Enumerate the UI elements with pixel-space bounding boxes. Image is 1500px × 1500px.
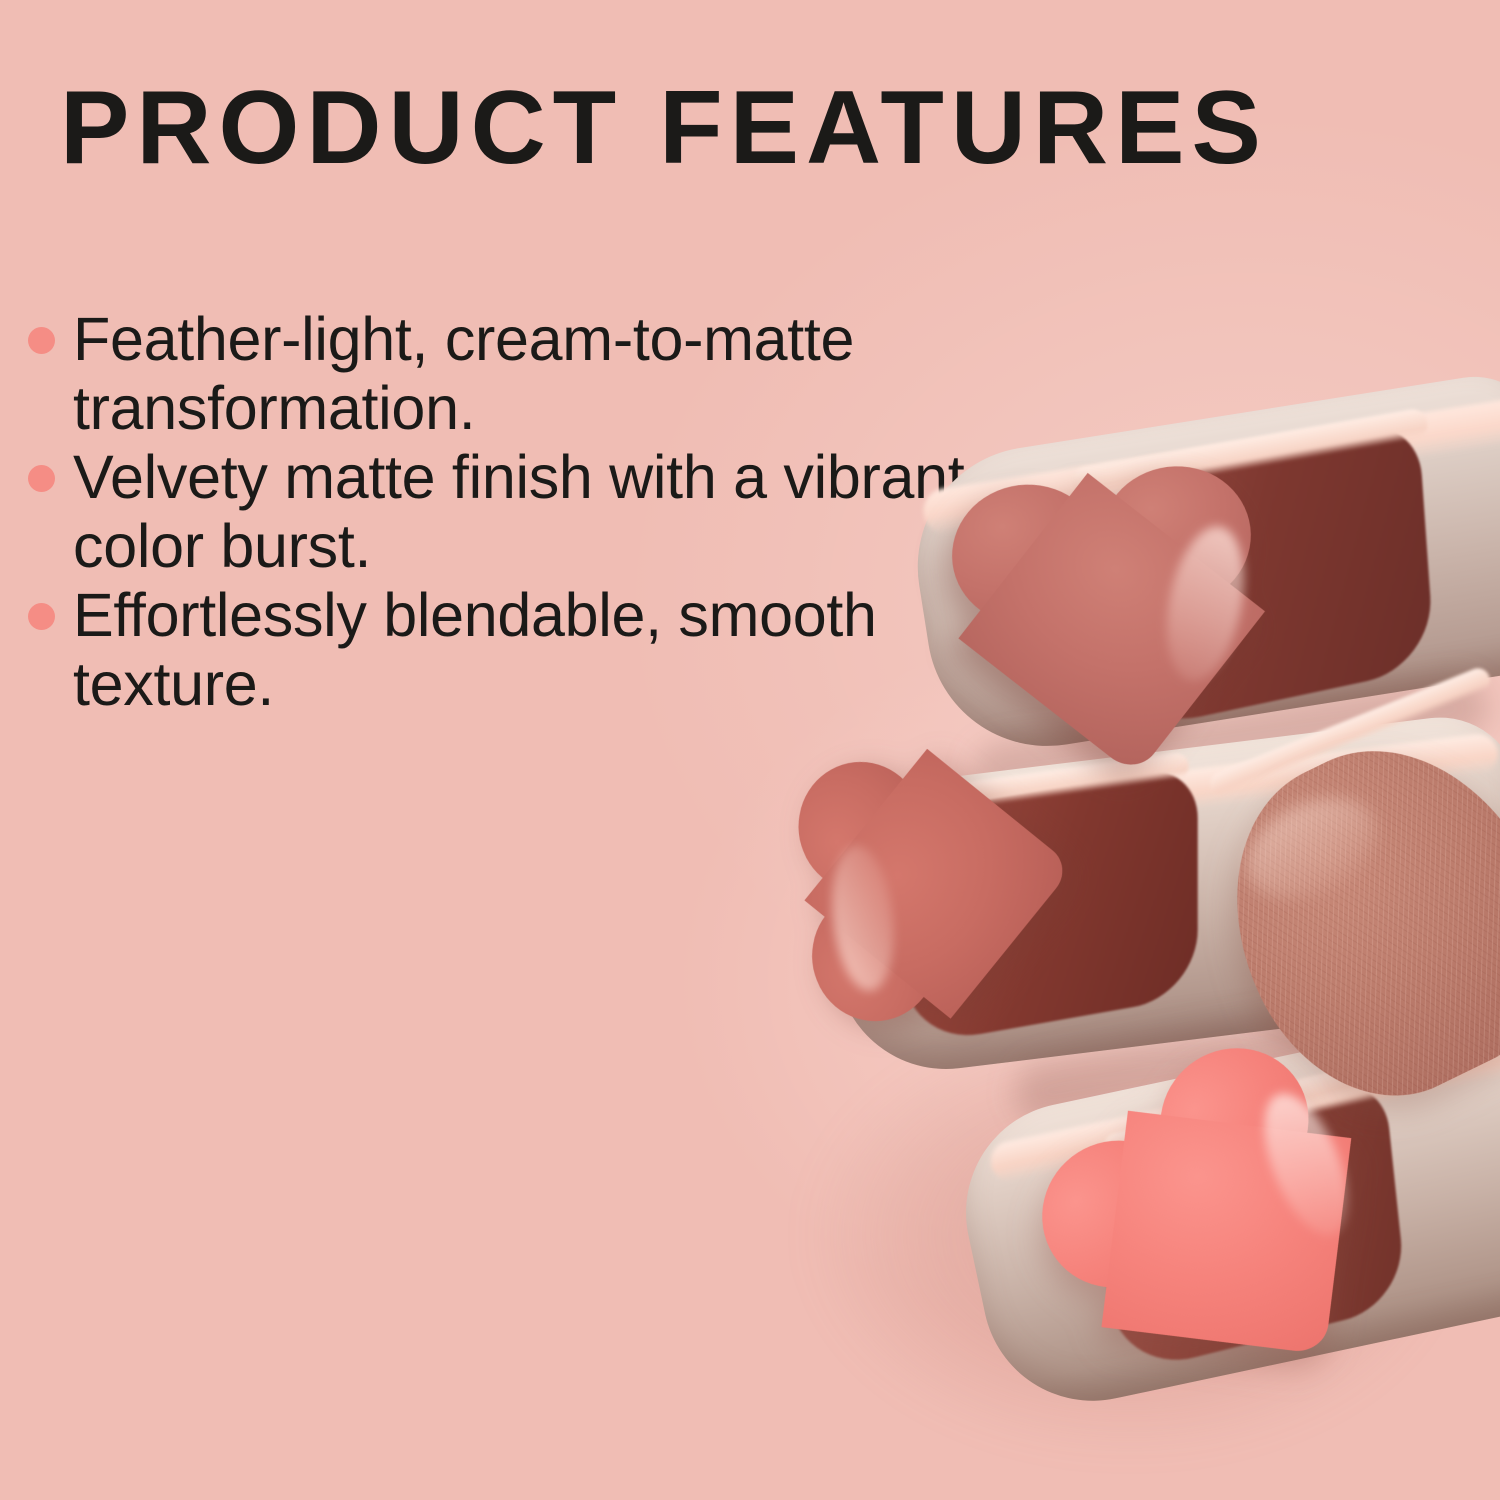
bullet-dot-icon	[28, 465, 55, 492]
product-features-page: PRODUCT FEATURES Feather-light, cream-to…	[0, 0, 1500, 1500]
dusty-rose-heart-bullet	[944, 458, 1276, 772]
product-photo	[770, 420, 1500, 1500]
brick-rose-heart-bullet	[792, 743, 1068, 1028]
page-title: PRODUCT FEATURES	[60, 76, 1320, 180]
bullet-dot-icon	[28, 327, 55, 354]
bullet-dot-icon	[28, 603, 55, 630]
